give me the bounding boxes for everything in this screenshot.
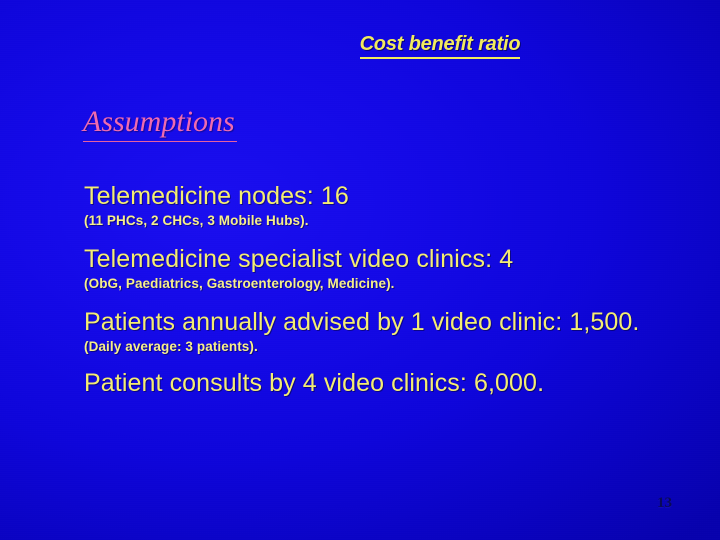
list-item: Patient consults by 4 video clinics: 6,0… xyxy=(84,370,704,397)
assumptions-list: Telemedicine nodes: 16 (11 PHCs, 2 CHCs,… xyxy=(84,183,704,409)
list-item: Telemedicine nodes: 16 (11 PHCs, 2 CHCs,… xyxy=(84,183,704,230)
list-item: Telemedicine specialist video clinics: 4… xyxy=(84,246,704,293)
slide-title-text: Cost benefit ratio xyxy=(360,33,521,59)
section-heading-text: Assumptions xyxy=(83,105,237,142)
list-item-sub-text: (11 PHCs, 2 CHCs, 3 Mobile Hubs). xyxy=(84,213,704,230)
list-item-sub-text: (Daily average: 3 patients). xyxy=(84,339,704,356)
list-item-sub-text: (ObG, Paediatrics, Gastroenterology, Med… xyxy=(84,276,704,293)
list-item-main-text: Telemedicine specialist video clinics: 4 xyxy=(84,246,704,273)
list-item-main-text: Telemedicine nodes: 16 xyxy=(84,183,704,210)
presentation-slide: Cost benefit ratio Assumptions Telemedic… xyxy=(0,0,720,540)
list-item-main-text: Patients annually advised by 1 video cli… xyxy=(84,309,704,336)
slide-title: Cost benefit ratio xyxy=(0,33,720,59)
list-item: Patients annually advised by 1 video cli… xyxy=(84,309,704,356)
list-item-main-text: Patient consults by 4 video clinics: 6,0… xyxy=(84,370,704,397)
section-heading-assumptions: Assumptions xyxy=(83,105,237,142)
page-number: 13 xyxy=(657,495,672,512)
